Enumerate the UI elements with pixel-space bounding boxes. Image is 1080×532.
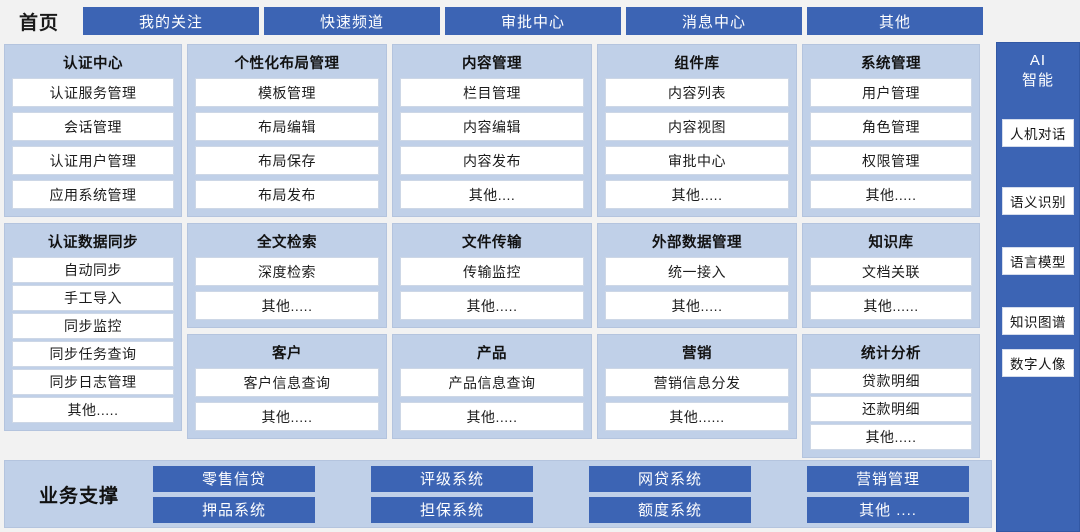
panel-item-list: 产品信息查询 其他..... bbox=[400, 368, 584, 431]
top-tab-bar: 首页 我的关注 快速频道 审批中心 消息中心 其他 bbox=[0, 0, 1080, 42]
menu-item[interactable]: 统一接入 bbox=[605, 257, 789, 286]
tab-approval-center[interactable]: 审批中心 bbox=[445, 7, 621, 35]
menu-item[interactable]: 用户管理 bbox=[810, 78, 972, 107]
menu-item[interactable]: 同步监控 bbox=[12, 313, 174, 339]
menu-item[interactable]: 手工导入 bbox=[12, 285, 174, 311]
biz-button-other[interactable]: 其他 .... bbox=[807, 497, 969, 523]
panel-item-list: 营销信息分发 其他...... bbox=[605, 368, 789, 431]
tab-quick-channel[interactable]: 快速频道 bbox=[264, 7, 440, 35]
panel-external-data-management: 外部数据管理 统一接入 其他..... bbox=[597, 223, 797, 328]
column-4: 组件库 内容列表 内容视图 审批中心 其他..... 外部数据管理 统一接入 其… bbox=[597, 44, 797, 456]
menu-item[interactable]: 内容发布 bbox=[400, 146, 584, 175]
tab-message-center[interactable]: 消息中心 bbox=[626, 7, 802, 35]
menu-item[interactable]: 布局保存 bbox=[195, 146, 379, 175]
panel-item-list: 栏目管理 内容编辑 内容发布 其他.... bbox=[400, 78, 584, 209]
panel-item-list: 统一接入 其他..... bbox=[605, 257, 789, 320]
panel-item-list: 认证服务管理 会话管理 认证用户管理 应用系统管理 bbox=[12, 78, 174, 209]
menu-item[interactable]: 栏目管理 bbox=[400, 78, 584, 107]
ai-item-semantic-recognition[interactable]: 语义识别 bbox=[1002, 187, 1074, 215]
tab-other[interactable]: 其他 bbox=[807, 7, 983, 35]
menu-item[interactable]: 其他..... bbox=[195, 402, 379, 431]
menu-item[interactable]: 其他..... bbox=[12, 397, 174, 423]
ai-sidebar: AI 智能 人机对话 语义识别 语言模型 知识图谱 数字人像 bbox=[996, 42, 1080, 532]
menu-item[interactable]: 其他.... bbox=[400, 180, 584, 209]
menu-item[interactable]: 会话管理 bbox=[12, 112, 174, 141]
ai-title-line-1: AI bbox=[1022, 51, 1054, 71]
menu-item[interactable]: 其他...... bbox=[810, 291, 972, 320]
panel-personalized-layout: 个性化布局管理 模板管理 布局编辑 布局保存 布局发布 bbox=[187, 44, 387, 217]
biz-button-collateral-system[interactable]: 押品系统 bbox=[153, 497, 315, 523]
panel-component-library: 组件库 内容列表 内容视图 审批中心 其他..... bbox=[597, 44, 797, 217]
panel-file-transfer: 文件传输 传输监控 其他..... bbox=[392, 223, 592, 328]
panel-item-list: 内容列表 内容视图 审批中心 其他..... bbox=[605, 78, 789, 209]
menu-item[interactable]: 内容视图 bbox=[605, 112, 789, 141]
tab-my-focus[interactable]: 我的关注 bbox=[83, 7, 259, 35]
panel-title: 认证数据同步 bbox=[12, 228, 174, 257]
panel-title: 系统管理 bbox=[810, 49, 972, 78]
column-1: 认证中心 认证服务管理 会话管理 认证用户管理 应用系统管理 认证数据同步 自动… bbox=[4, 44, 182, 456]
column-3: 内容管理 栏目管理 内容编辑 内容发布 其他.... 文件传输 传输监控 其他.… bbox=[392, 44, 592, 456]
column-2: 个性化布局管理 模板管理 布局编辑 布局保存 布局发布 全文检索 深度检索 其他… bbox=[187, 44, 387, 456]
ai-title-line-2: 智能 bbox=[1022, 71, 1054, 91]
panel-system-management: 系统管理 用户管理 角色管理 权限管理 其他..... bbox=[802, 44, 980, 217]
menu-item[interactable]: 审批中心 bbox=[605, 146, 789, 175]
menu-item[interactable]: 其他...... bbox=[605, 402, 789, 431]
panel-item-list: 深度检索 其他..... bbox=[195, 257, 379, 320]
panel-product: 产品 产品信息查询 其他..... bbox=[392, 334, 592, 439]
menu-item[interactable]: 其他..... bbox=[605, 180, 789, 209]
ai-sidebar-title: AI 智能 bbox=[1022, 51, 1054, 91]
panel-title: 文件传输 bbox=[400, 228, 584, 257]
ai-item-knowledge-graph[interactable]: 知识图谱 bbox=[1002, 307, 1074, 335]
panel-title: 知识库 bbox=[810, 228, 972, 257]
business-support-bar: 业务支撑 零售信贷 评级系统 网贷系统 营销管理 押品系统 担保系统 额度系统 … bbox=[4, 460, 992, 528]
menu-item[interactable]: 传输监控 bbox=[400, 257, 584, 286]
panel-title: 统计分析 bbox=[810, 339, 972, 368]
page-title: 首页 bbox=[0, 8, 78, 35]
panel-item-list: 用户管理 角色管理 权限管理 其他..... bbox=[810, 78, 972, 209]
menu-item[interactable]: 营销信息分发 bbox=[605, 368, 789, 397]
business-support-button-grid: 零售信贷 评级系统 网贷系统 营销管理 押品系统 担保系统 额度系统 其他 ..… bbox=[153, 466, 991, 523]
menu-item[interactable]: 客户信息查询 bbox=[195, 368, 379, 397]
panel-title: 全文检索 bbox=[195, 228, 379, 257]
menu-item[interactable]: 应用系统管理 bbox=[12, 180, 174, 209]
panel-knowledge-base: 知识库 文档关联 其他...... bbox=[802, 223, 980, 328]
menu-item[interactable]: 自动同步 bbox=[12, 257, 174, 283]
menu-item[interactable]: 其他..... bbox=[810, 180, 972, 209]
menu-item[interactable]: 角色管理 bbox=[810, 112, 972, 141]
app-root: 首页 我的关注 快速频道 审批中心 消息中心 其他 认证中心 认证服务管理 会话… bbox=[0, 0, 1080, 532]
menu-item[interactable]: 权限管理 bbox=[810, 146, 972, 175]
menu-item[interactable]: 产品信息查询 bbox=[400, 368, 584, 397]
biz-button-rating-system[interactable]: 评级系统 bbox=[371, 466, 533, 492]
menu-item[interactable]: 其他..... bbox=[810, 424, 972, 450]
panel-title: 产品 bbox=[400, 339, 584, 368]
panel-marketing: 营销 营销信息分发 其他...... bbox=[597, 334, 797, 439]
menu-item[interactable]: 同步日志管理 bbox=[12, 369, 174, 395]
panel-item-list: 自动同步 手工导入 同步监控 同步任务查询 同步日志管理 其他..... bbox=[12, 257, 174, 423]
panel-statistical-analysis: 统计分析 贷款明细 还款明细 其他..... bbox=[802, 334, 980, 458]
panel-title: 客户 bbox=[195, 339, 379, 368]
panel-item-list: 客户信息查询 其他..... bbox=[195, 368, 379, 431]
biz-button-limit-system[interactable]: 额度系统 bbox=[589, 497, 751, 523]
module-columns: 认证中心 认证服务管理 会话管理 认证用户管理 应用系统管理 认证数据同步 自动… bbox=[4, 44, 992, 456]
panel-auth-data-sync: 认证数据同步 自动同步 手工导入 同步监控 同步任务查询 同步日志管理 其他..… bbox=[4, 223, 182, 431]
menu-item[interactable]: 贷款明细 bbox=[810, 368, 972, 394]
menu-item[interactable]: 内容编辑 bbox=[400, 112, 584, 141]
menu-item[interactable]: 同步任务查询 bbox=[12, 341, 174, 367]
biz-button-online-loan-system[interactable]: 网贷系统 bbox=[589, 466, 751, 492]
panel-content-management: 内容管理 栏目管理 内容编辑 内容发布 其他.... bbox=[392, 44, 592, 217]
panel-fulltext-search: 全文检索 深度检索 其他..... bbox=[187, 223, 387, 328]
menu-item[interactable]: 模板管理 bbox=[195, 78, 379, 107]
menu-item[interactable]: 文档关联 bbox=[810, 257, 972, 286]
panel-title: 外部数据管理 bbox=[605, 228, 789, 257]
ai-item-language-model[interactable]: 语言模型 bbox=[1002, 247, 1074, 275]
panel-item-list: 文档关联 其他...... bbox=[810, 257, 972, 320]
panel-title: 个性化布局管理 bbox=[195, 49, 379, 78]
panel-item-list: 模板管理 布局编辑 布局保存 布局发布 bbox=[195, 78, 379, 209]
menu-item[interactable]: 深度检索 bbox=[195, 257, 379, 286]
panel-title: 营销 bbox=[605, 339, 789, 368]
menu-item[interactable]: 其他..... bbox=[605, 291, 789, 320]
panel-item-list: 贷款明细 还款明细 其他..... bbox=[810, 368, 972, 450]
ai-item-human-machine-dialogue[interactable]: 人机对话 bbox=[1002, 119, 1074, 147]
panel-item-list: 传输监控 其他..... bbox=[400, 257, 584, 320]
column-5: 系统管理 用户管理 角色管理 权限管理 其他..... 知识库 文档关联 其他.… bbox=[802, 44, 980, 456]
menu-item[interactable]: 认证服务管理 bbox=[12, 78, 174, 107]
panel-title: 认证中心 bbox=[12, 49, 174, 78]
biz-button-guarantee-system[interactable]: 担保系统 bbox=[371, 497, 533, 523]
menu-item[interactable]: 认证用户管理 bbox=[12, 146, 174, 175]
business-support-title: 业务支撑 bbox=[5, 481, 153, 508]
panel-customer: 客户 客户信息查询 其他..... bbox=[187, 334, 387, 439]
menu-item[interactable]: 其他..... bbox=[400, 291, 584, 320]
menu-item[interactable]: 布局编辑 bbox=[195, 112, 379, 141]
menu-item[interactable]: 其他..... bbox=[195, 291, 379, 320]
menu-item[interactable]: 其他..... bbox=[400, 402, 584, 431]
menu-item[interactable]: 布局发布 bbox=[195, 180, 379, 209]
menu-item[interactable]: 内容列表 bbox=[605, 78, 789, 107]
panel-title: 组件库 bbox=[605, 49, 789, 78]
ai-item-digital-portrait[interactable]: 数字人像 bbox=[1002, 349, 1074, 377]
panel-auth-center: 认证中心 认证服务管理 会话管理 认证用户管理 应用系统管理 bbox=[4, 44, 182, 217]
biz-button-retail-credit[interactable]: 零售信贷 bbox=[153, 466, 315, 492]
menu-item[interactable]: 还款明细 bbox=[810, 396, 972, 422]
biz-button-marketing-management[interactable]: 营销管理 bbox=[807, 466, 969, 492]
panel-title: 内容管理 bbox=[400, 49, 584, 78]
